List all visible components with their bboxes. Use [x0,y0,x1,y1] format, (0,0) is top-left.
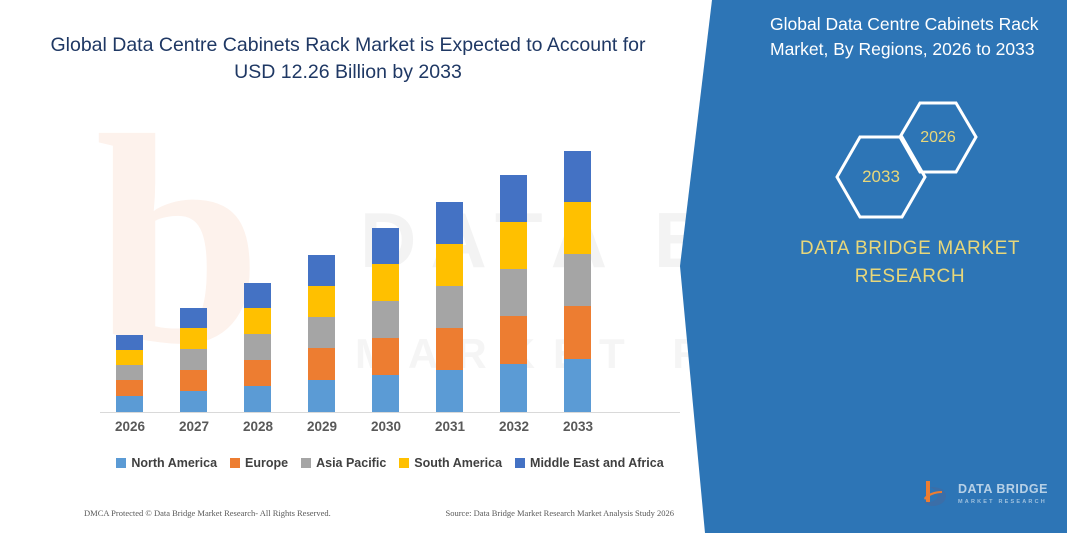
legend-item[interactable]: Asia Pacific [301,456,386,470]
bar-segment [244,334,271,360]
hexagon-2033-label: 2033 [862,167,900,187]
bar-segment [180,308,207,328]
bar-segment [564,254,591,306]
brand-line-2: RESEARCH [760,263,1060,291]
x-axis-labels: 20262027202820292030203120322033 [100,419,680,443]
bar-segment [372,228,399,264]
logo-line-1: DATA BRIDGE [958,483,1048,496]
footer: DMCA Protected © Data Bridge Market Rese… [84,508,674,518]
bar-segment [308,286,335,317]
bar-segment [500,316,527,364]
bar-2027[interactable] [180,308,207,412]
bar-2026[interactable] [116,335,143,412]
bar-segment [564,151,591,202]
legend-item[interactable]: North America [116,456,217,470]
legend-label: Europe [245,456,288,470]
bar-segment [564,359,591,412]
legend-item[interactable]: Europe [230,456,288,470]
bar-segment [180,349,207,370]
x-axis-label-2033: 2033 [546,419,610,434]
bar-segment [308,348,335,380]
legend-swatch-icon [116,458,126,468]
x-axis-label-2032: 2032 [482,419,546,434]
bar-segment [180,391,207,412]
bar-segment [564,202,591,254]
bar-2031[interactable] [436,202,463,412]
legend-swatch-icon [301,458,311,468]
logo-text: DATA BRIDGE MARKET RESEARCH [958,483,1048,505]
x-axis-line [100,412,680,413]
x-axis-label-2026: 2026 [98,419,162,434]
bar-segment [116,365,143,380]
bar-segment [436,328,463,370]
bar-segment [564,306,591,359]
hexagon-group: 2033 2026 [820,95,1020,215]
x-axis-label-2030: 2030 [354,419,418,434]
x-axis-label-2028: 2028 [226,419,290,434]
legend-label: North America [131,456,217,470]
legend-swatch-icon [230,458,240,468]
chart-title: Global Data Centre Cabinets Rack Market … [48,32,648,86]
bar-2032[interactable] [500,175,527,412]
bar-2030[interactable] [372,228,399,412]
bar-segment [436,244,463,286]
bar-2029[interactable] [308,255,335,412]
bar-segment [308,255,335,286]
logo-b-mark-icon [918,477,952,511]
bar-segment [372,264,399,301]
bar-segment [116,350,143,365]
bar-segment [116,380,143,396]
legend-swatch-icon [399,458,409,468]
bar-segment [436,202,463,244]
bar-segment [180,370,207,391]
panel-title: Global Data Centre Cabinets Rack Market,… [770,12,1055,62]
legend-label: Middle East and Africa [530,456,664,470]
bar-segment [372,301,399,338]
bar-2028[interactable] [244,283,271,412]
stacked-bar-chart [100,140,680,412]
bar-segment [500,269,527,316]
brand-line-1: DATA BRIDGE MARKET [760,235,1060,263]
bar-segment [244,308,271,334]
bar-segment [436,286,463,328]
hexagon-2026-label: 2026 [920,129,956,147]
logo-line-2: MARKET RESEARCH [958,500,1048,506]
bar-segment [500,175,527,222]
bar-segment [244,283,271,308]
bar-segment [372,338,399,375]
chart-legend: North AmericaEuropeAsia PacificSouth Ame… [100,456,680,470]
bar-segment [116,396,143,412]
bar-2033[interactable] [564,151,591,412]
legend-label: South America [414,456,502,470]
legend-swatch-icon [515,458,525,468]
infographic-canvas: b DATA BRIDGE MARKET RESEARCH Global Dat… [0,0,1067,533]
legend-item[interactable]: South America [399,456,502,470]
bar-segment [500,364,527,412]
bar-segment [500,222,527,269]
bar-segment [244,360,271,386]
legend-label: Asia Pacific [316,456,386,470]
brand-name: DATA BRIDGE MARKET RESEARCH [760,235,1060,291]
x-axis-label-2027: 2027 [162,419,226,434]
footer-source: Source: Data Bridge Market Research Mark… [445,508,674,518]
x-axis-label-2031: 2031 [418,419,482,434]
bar-segment [244,386,271,412]
x-axis-label-2029: 2029 [290,419,354,434]
company-logo: DATA BRIDGE MARKET RESEARCH [918,473,1058,515]
legend-item[interactable]: Middle East and Africa [515,456,664,470]
bar-segment [308,317,335,348]
bar-segment [116,335,143,350]
bar-segment [372,375,399,412]
bar-segment [180,328,207,349]
bar-segment [436,370,463,412]
footer-copyright: DMCA Protected © Data Bridge Market Rese… [84,508,331,518]
hexagon-2026: 2026 [898,101,978,174]
bar-segment [308,380,335,412]
